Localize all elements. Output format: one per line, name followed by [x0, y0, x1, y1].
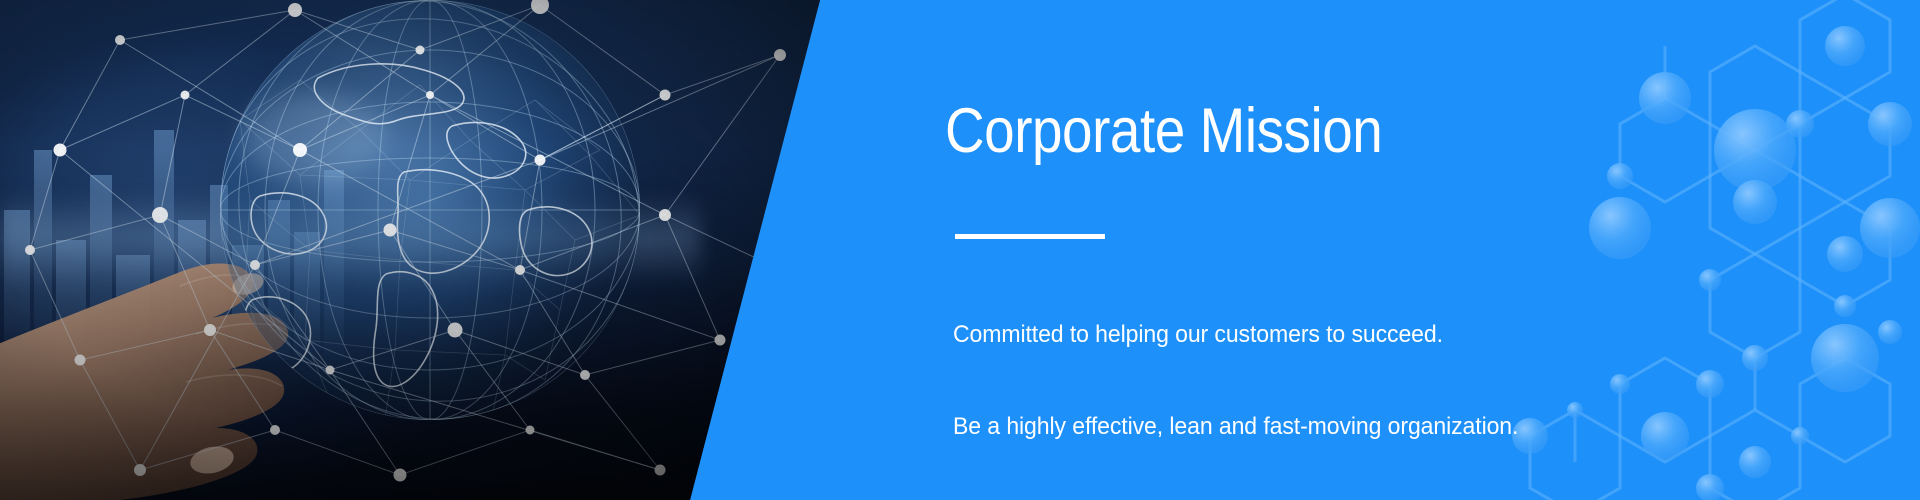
mission-line: Committed to helping our customers to su…	[953, 320, 1539, 351]
mission-statement: Committed to helping our customers to su…	[953, 259, 1539, 500]
corporate-mission-banner: Corporate Mission Committed to helping o…	[0, 0, 1920, 500]
mission-line: Be a highly effective, lean and fast-mov…	[953, 412, 1539, 443]
mission-text-block: Corporate Mission Committed to helping o…	[953, 0, 1713, 500]
title-underline	[955, 234, 1105, 239]
page-title: Corporate Mission	[945, 95, 1382, 167]
